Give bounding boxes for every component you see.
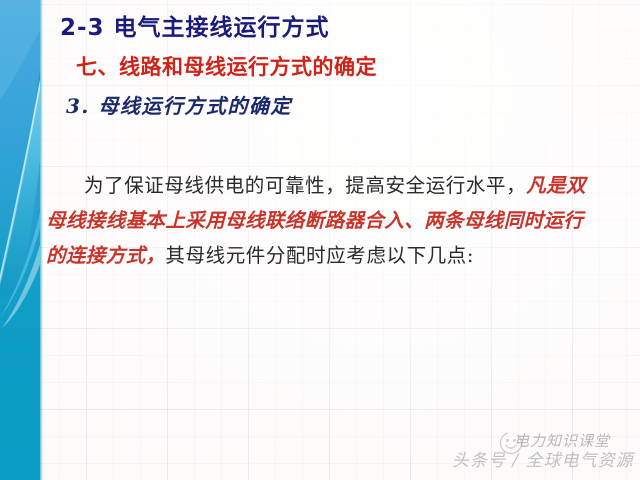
subsection-heading: 3. 母线运行方式的确定 [66, 90, 292, 119]
body-line-2: 母线接线基本上采用母线联络断路器合入、两条母线同时运行 [46, 203, 632, 238]
slide-canvas: 2-3 电气主接线运行方式 七、线路和母线运行方式的确定 3. 母线运行方式的确… [0, 0, 640, 480]
body-line-1-emphasis: 凡是双 [526, 174, 586, 197]
page-title: 2-3 电气主接线运行方式 [60, 8, 330, 42]
band-edge-shadow [40, 0, 43, 480]
body-line-2-emphasis: 母线接线基本上采用母线联络断路器合入、两条母线同时运行 [46, 209, 583, 232]
left-decorative-band [0, 0, 40, 480]
band-swoosh-graphic [0, 0, 40, 480]
body-line-3: 的连接方式，其母线元件分配时应考虑以下几点: [46, 238, 632, 273]
body-line-1-plain: 为了保证母线供电的可靠性，提高安全运行水平， [84, 174, 526, 197]
body-line-1: 为了保证母线供电的可靠性，提高安全运行水平，凡是双 [46, 168, 632, 203]
body-line-3-plain: 其母线元件分配时应考虑以下几点: [165, 244, 474, 267]
body-line-3-emphasis: 的连接方式， [46, 244, 165, 267]
body-paragraph: 为了保证母线供电的可靠性，提高安全运行水平，凡是双 母线接线基本上采用母线联络断… [46, 168, 632, 273]
section-heading: 七、线路和母线运行方式的确定 [76, 51, 377, 81]
